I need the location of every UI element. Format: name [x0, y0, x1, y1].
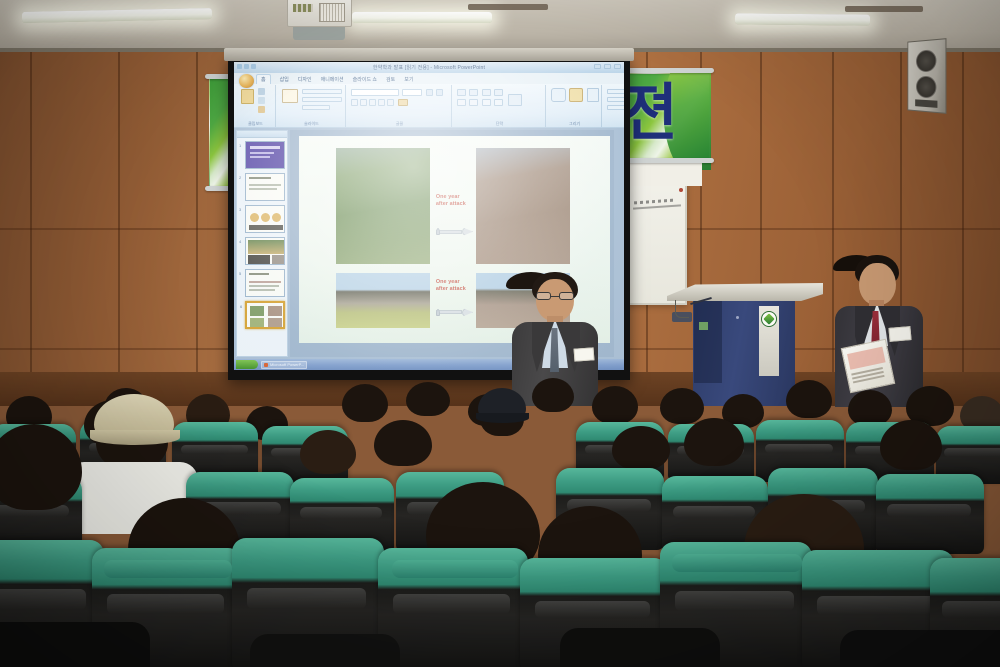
font-size-combobox[interactable]: [402, 89, 422, 96]
tab-design[interactable]: 디자인: [298, 76, 312, 83]
ribbon-tabs[interactable]: 홈 삽입 디자인 애니메이션 슬라이드 쇼 검토 보기: [256, 74, 624, 84]
ribbon-group-label: 편집: [604, 121, 624, 127]
ribbon-group-label: 슬라이드: [278, 121, 345, 127]
whiteboard-marker-dot: [679, 188, 683, 192]
ribbon[interactable]: 클립보드 슬라이드: [234, 84, 624, 128]
audience-head: [786, 380, 832, 418]
seat-armrest: [672, 554, 802, 572]
taskbar-item-label: Microsoft PowerP...: [270, 362, 304, 367]
decrease-indent-icon[interactable]: [482, 89, 491, 96]
name-badge: [888, 326, 911, 342]
find-button[interactable]: [607, 89, 624, 94]
whiteboard-underline: [633, 204, 681, 209]
tab-animations[interactable]: 애니메이션: [321, 76, 344, 83]
thumb-number: 5: [239, 271, 241, 276]
projector-vent-icon: [319, 3, 345, 22]
ribbon-group-paragraph[interactable]: 단락: [454, 85, 546, 127]
bold-icon[interactable]: [351, 99, 358, 106]
whiteboard-writing: [634, 199, 674, 205]
layout-button[interactable]: [302, 89, 342, 94]
strikethrough-icon[interactable]: [378, 99, 385, 106]
quick-styles-icon[interactable]: [587, 88, 599, 102]
justify-icon[interactable]: [494, 99, 503, 106]
audience-head: [880, 420, 942, 470]
list-item[interactable]: 1: [245, 141, 285, 169]
thumb-number: 4: [239, 239, 241, 244]
window-title-bar: 한약학과 발표 [읽기 전용] - Microsoft PowerPoint: [234, 62, 624, 73]
increase-indent-icon[interactable]: [494, 89, 503, 96]
seat-armrest: [104, 560, 232, 578]
powerpoint-icon: [264, 363, 268, 367]
audience-head: [612, 426, 670, 470]
audience-head: [300, 430, 356, 474]
align-left-icon[interactable]: [457, 99, 466, 106]
list-item[interactable]: 4: [245, 237, 285, 265]
select-button[interactable]: [607, 105, 624, 110]
audience-head: [660, 388, 704, 424]
arrange-icon[interactable]: [569, 88, 583, 102]
align-right-icon[interactable]: [482, 99, 491, 106]
fluorescent-tube-center: [352, 12, 492, 23]
maximize-icon[interactable]: [604, 64, 611, 69]
audience: [0, 372, 1000, 667]
font-color-icon[interactable]: [398, 99, 408, 106]
ribbon-group-label: 클립보드: [236, 121, 275, 127]
projector-controls: [293, 4, 313, 12]
slide-thumbnail-panel[interactable]: 1 2 3: [236, 130, 288, 357]
audience-head: [374, 420, 432, 466]
ribbon-group-clipboard[interactable]: 클립보드: [236, 85, 276, 127]
underline-icon[interactable]: [369, 99, 376, 106]
start-button[interactable]: [236, 360, 258, 369]
name-badge: [574, 347, 595, 361]
speaker-driver-icon: [916, 76, 936, 99]
ribbon-group-slides[interactable]: 슬라이드: [278, 85, 346, 127]
window-controls[interactable]: [594, 64, 621, 69]
lectern-green-light: [699, 322, 708, 330]
arrow-right-icon: [436, 308, 473, 317]
speaker-label: [915, 99, 937, 108]
tab-insert[interactable]: 삽입: [280, 76, 289, 83]
seat-armrest: [392, 560, 518, 578]
audience-head: [684, 418, 744, 466]
redo-icon[interactable]: [251, 64, 256, 69]
screen-housing: [224, 48, 634, 61]
lectern-fastener: [736, 316, 739, 319]
font-name-combobox[interactable]: [351, 89, 399, 96]
align-center-icon[interactable]: [469, 99, 478, 106]
ribbon-group-label: 그리기: [548, 121, 601, 127]
italic-icon[interactable]: [360, 99, 367, 106]
taskbar-item-powerpoint[interactable]: Microsoft PowerP...: [261, 361, 307, 369]
thumb-number: 1: [239, 143, 241, 148]
shadow-icon[interactable]: [387, 99, 394, 106]
tab-slideshow[interactable]: 슬라이드 쇼: [353, 76, 377, 83]
ribbon-group-label: 글꼴: [348, 121, 451, 127]
slide-annotation-bottom: One year after attack: [436, 279, 466, 294]
audience-head: [848, 390, 892, 426]
copy-icon[interactable]: [258, 97, 265, 104]
fluorescent-tube-right: [735, 13, 870, 25]
save-icon[interactable]: [237, 64, 242, 69]
list-item[interactable]: 5: [245, 269, 285, 297]
lectern-logo-strip: [759, 306, 779, 376]
ribbon-group-editing[interactable]: 편집: [604, 85, 624, 127]
slide-annotation-top: One year after attack: [436, 194, 466, 209]
quick-access-toolbar[interactable]: [237, 64, 256, 69]
light-rail-right: [845, 6, 923, 12]
office-button[interactable]: [238, 73, 255, 89]
thumb-number: 6: [240, 304, 242, 309]
format-painter-icon[interactable]: [258, 106, 265, 113]
cut-icon[interactable]: [258, 88, 265, 95]
projector-mount: [293, 27, 345, 40]
grow-font-icon[interactable]: [426, 89, 433, 96]
seat: [876, 474, 984, 554]
thumb-number: 3: [239, 207, 241, 212]
undo-icon[interactable]: [244, 64, 249, 69]
lectern-side-panel: [694, 297, 722, 383]
slide-photo-top-right: [476, 148, 569, 264]
audience-torso: [0, 622, 150, 667]
ceiling-projector: [287, 0, 352, 27]
audience-head: [532, 378, 574, 412]
new-slide-icon[interactable]: [282, 89, 298, 103]
lecture-hall-photo: 젼 한약학과 발표 [읽기 전용] - Microsoft PowerPoint: [0, 0, 1000, 667]
shapes-icon[interactable]: [551, 88, 566, 102]
list-item-selected[interactable]: 6: [245, 301, 285, 329]
slides-outline-tabs[interactable]: [237, 131, 287, 138]
slide-photo-bottom-left: [336, 273, 429, 329]
arrow-right-icon: [436, 227, 473, 236]
ribbon-group-font[interactable]: 글꼴: [348, 85, 452, 127]
numbering-icon[interactable]: [469, 89, 478, 96]
list-item[interactable]: 2: [245, 173, 285, 201]
list-item[interactable]: 3: [245, 205, 285, 233]
minimize-icon[interactable]: [594, 64, 601, 69]
reset-button[interactable]: [302, 97, 342, 102]
ribbon-group-drawing[interactable]: 그리기: [548, 85, 602, 127]
audience-head: [592, 386, 638, 424]
head: [536, 279, 574, 321]
slide-photo-top-left: [336, 148, 429, 264]
head: [859, 263, 896, 305]
thumb-number: 2: [239, 175, 241, 180]
wall-mounted-speaker: [907, 38, 946, 114]
tab-home[interactable]: 홈: [256, 74, 271, 84]
ribbon-group-label: 단락: [454, 121, 545, 127]
window-title-text: 한약학과 발표 [읽기 전용] - Microsoft PowerPoint: [373, 64, 485, 71]
replace-button[interactable]: [607, 97, 624, 102]
tab-review[interactable]: 검토: [386, 76, 395, 83]
close-icon[interactable]: [614, 64, 621, 69]
banner-lower-white-strip: [624, 160, 702, 186]
audience-head: [406, 382, 450, 416]
convert-smartart-icon[interactable]: [508, 94, 522, 106]
paste-icon[interactable]: [241, 89, 254, 104]
lectern-cable: [675, 300, 689, 318]
audience-torso: [250, 634, 400, 667]
audience-torso: [560, 628, 720, 667]
audience-torso: [840, 630, 1000, 667]
black-baseball-cap: [478, 388, 526, 418]
bullets-icon[interactable]: [457, 89, 466, 96]
eyeglasses-icon: [536, 292, 574, 300]
speaker-driver-icon: [916, 49, 936, 72]
shrink-font-icon[interactable]: [436, 89, 443, 96]
audience-head: [342, 384, 388, 422]
light-rail-center: [468, 4, 548, 10]
delete-button[interactable]: [302, 105, 330, 110]
institution-emblem-icon: [761, 311, 777, 327]
tab-view[interactable]: 보기: [404, 76, 413, 83]
